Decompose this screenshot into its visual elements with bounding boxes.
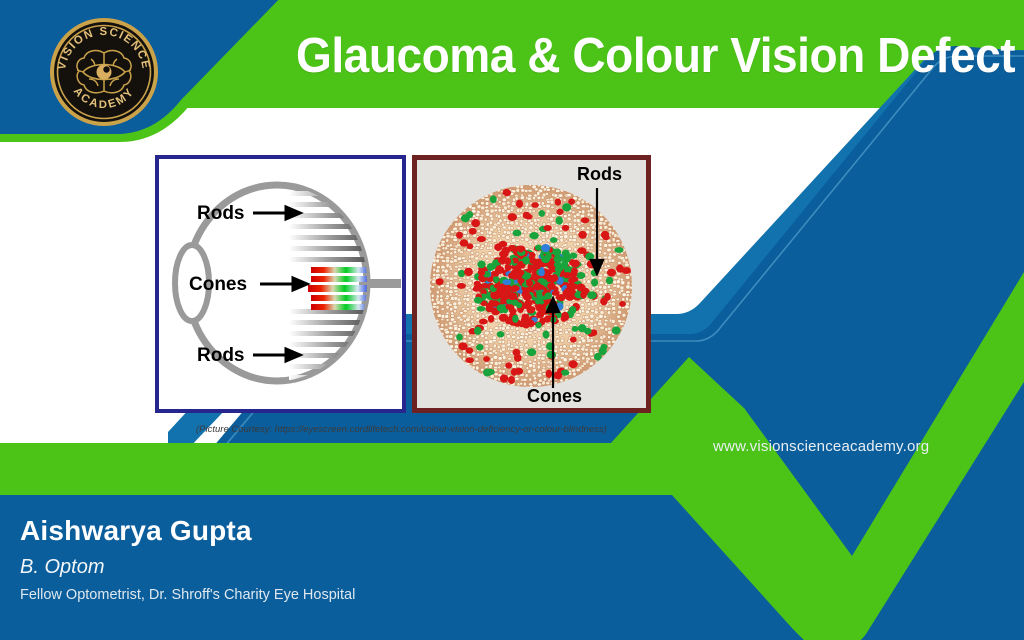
slide-canvas: VISION SCIENCE ACADEMY Glaucoma & Colour… xyxy=(0,0,1024,640)
figure-caption: (Picture Courtesy: https://eyescreen.cor… xyxy=(196,424,616,435)
author-degree: B. Optom xyxy=(20,556,104,579)
label-rods-top: Rods xyxy=(197,203,245,224)
author-name: Aishwarya Gupta xyxy=(20,515,252,547)
label-rods-bottom: Rods xyxy=(197,345,245,366)
retina-mosaic-svg: Rods Cones xyxy=(417,160,646,408)
figure-eye-diagram: Rods Cones Rods xyxy=(155,155,406,413)
label-cones: Cones xyxy=(527,386,582,406)
eye-cross-section-svg: Rods Cones Rods xyxy=(159,159,402,409)
author-affiliation: Fellow Optometrist, Dr. Shroff's Charity… xyxy=(20,587,355,603)
label-cones: Cones xyxy=(189,274,247,295)
figure-retina-mosaic: Rods Cones xyxy=(412,155,651,413)
vision-science-academy-logo: VISION SCIENCE ACADEMY xyxy=(49,17,159,127)
website-url[interactable]: www.visionscienceacademy.org xyxy=(713,438,929,455)
label-rods: Rods xyxy=(577,164,622,184)
page-title: Glaucoma & Colour Vision Defect xyxy=(296,22,969,92)
